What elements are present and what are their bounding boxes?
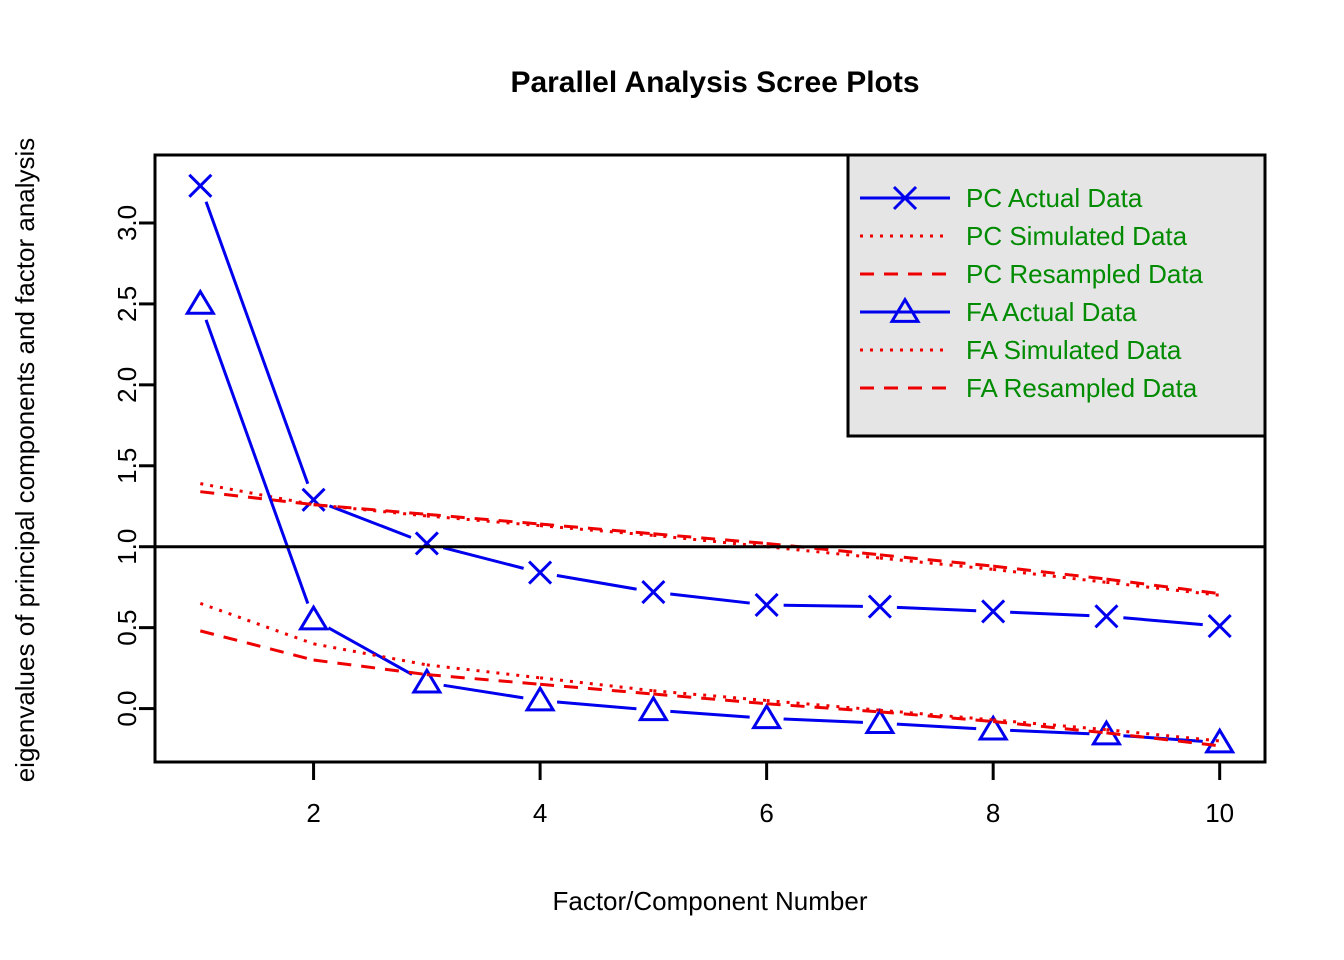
y-tick-label: 0.5 (112, 610, 142, 646)
x-tick-label: 6 (759, 798, 773, 828)
x-tick-label: 10 (1205, 798, 1234, 828)
y-tick-label: 2.0 (112, 367, 142, 403)
legend-label-5: FA Simulated Data (966, 335, 1182, 365)
legend-label-1: PC Actual Data (966, 183, 1143, 213)
y-tick-label: 0.0 (112, 691, 142, 727)
y-tick-label: 1.5 (112, 448, 142, 484)
x-tick-label: 4 (533, 798, 547, 828)
y-tick-label: 1.0 (112, 529, 142, 565)
y-tick-label: 2.5 (112, 286, 142, 322)
legend-label-6: FA Resampled Data (966, 373, 1198, 403)
y-axis-label: eigenvalues of principal components and … (10, 138, 40, 783)
x-axis-label: Factor/Component Number (552, 886, 867, 916)
x-tick-label: 2 (306, 798, 320, 828)
series-segment (784, 605, 863, 606)
y-tick-label: 3.0 (112, 205, 142, 241)
plot-svg: Parallel Analysis Scree Plots eigenvalue… (0, 0, 1344, 960)
x-tick-label: 8 (986, 798, 1000, 828)
legend-label-2: PC Simulated Data (966, 221, 1188, 251)
legend-label-3: PC Resampled Data (966, 259, 1204, 289)
legend-label-4: FA Actual Data (966, 297, 1137, 327)
chart-title: Parallel Analysis Scree Plots (510, 66, 919, 99)
legend: PC Actual DataPC Simulated DataPC Resamp… (848, 155, 1265, 436)
figure-background (0, 0, 1344, 960)
scree-plot-figure: Parallel Analysis Scree Plots eigenvalue… (0, 0, 1344, 960)
